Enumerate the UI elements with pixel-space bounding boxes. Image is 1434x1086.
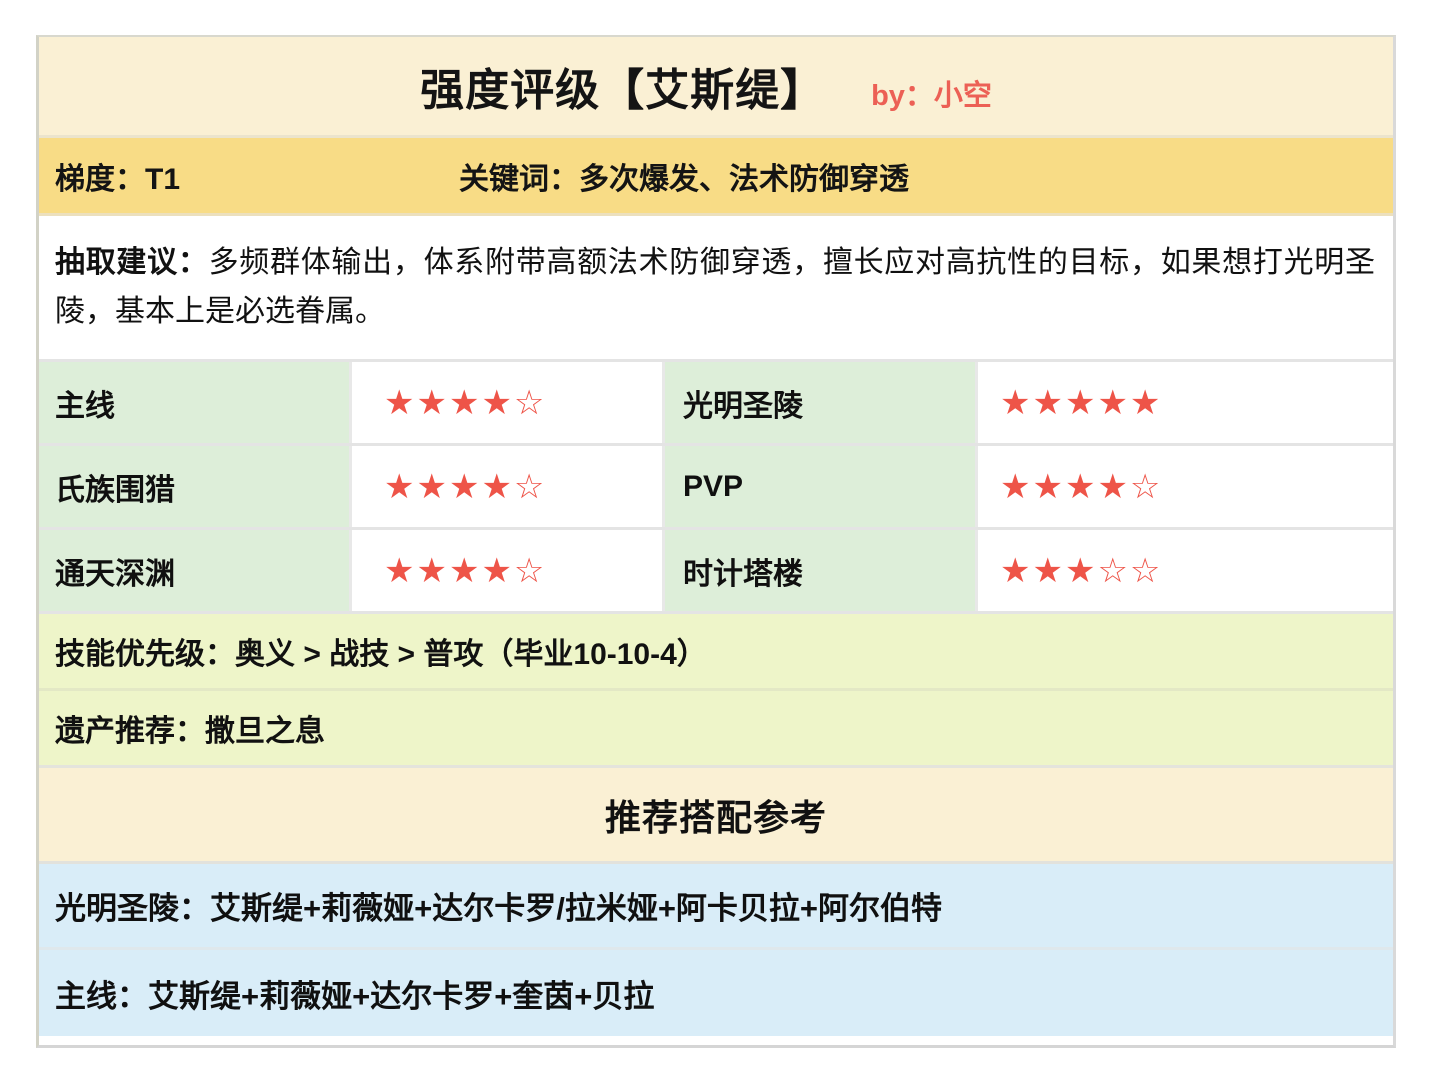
tier-row: 梯度：T1 关键词：多次爆发、法术防御穿透 xyxy=(39,138,1393,216)
skill-priority-text: 技能优先级：奥义 > 战技 > 普攻（毕业10-10-4） xyxy=(39,614,707,688)
rating-label-clock-tower: 时计塔楼 xyxy=(665,530,978,611)
advice-label: 抽取建议： xyxy=(55,246,209,279)
rating-label-holy-tomb: 光明圣陵 xyxy=(665,362,978,443)
advice-text: 抽取建议：多频群体输出，体系附带高额法术防御穿透，擅长应对高抗性的目标，如果想打… xyxy=(39,239,1393,336)
rating-label-abyss: 通天深渊 xyxy=(39,530,352,611)
rating-row: 通天深渊 ★★★★☆ 时计塔楼 ★★★☆☆ xyxy=(39,530,1393,614)
advice-body: 多频群体输出，体系附带高额法术防御穿透，擅长应对高抗性的目标，如果想打光明圣陵，… xyxy=(55,246,1375,328)
rating-label-pvp: PVP xyxy=(665,446,978,527)
legacy-row: 遗产推荐：撒旦之息 xyxy=(39,691,1393,768)
team-section-header: 推荐搭配参考 xyxy=(39,768,1393,864)
rating-row: 主线 ★★★★☆ 光明圣陵 ★★★★★ xyxy=(39,362,1393,446)
team-section-header-text: 推荐搭配参考 xyxy=(605,789,827,841)
rating-label-main-story: 主线 xyxy=(39,362,352,443)
keywords-label: 关键词：多次爆发、法术防御穿透 xyxy=(459,138,1393,213)
rating-stars-main-story: ★★★★☆ xyxy=(384,386,546,420)
rating-stars-clan-hunt: ★★★★☆ xyxy=(384,470,546,504)
rating-stars-clock-tower: ★★★☆☆ xyxy=(1000,554,1162,588)
page-title: 强度评级【艾斯缇】 xyxy=(420,54,825,118)
rating-stars-pvp: ★★★★☆ xyxy=(1000,470,1162,504)
skill-priority-row: 技能优先级：奥义 > 战技 > 普攻（毕业10-10-4） xyxy=(39,614,1393,691)
rating-stars-abyss: ★★★★☆ xyxy=(384,554,546,588)
rating-label-clan-hunt: 氏族围猎 xyxy=(39,446,352,527)
advice-row: 抽取建议：多频群体输出，体系附带高额法术防御穿透，擅长应对高抗性的目标，如果想打… xyxy=(39,216,1393,362)
title-row: 强度评级【艾斯缇】 by：小空 xyxy=(39,37,1393,138)
rating-stars-holy-tomb: ★★★★★ xyxy=(1000,386,1162,420)
rating-row: 氏族围猎 ★★★★☆ PVP ★★★★☆ xyxy=(39,446,1393,530)
author-byline: by：小空 xyxy=(871,72,992,114)
team-comp-main-story: 主线：艾斯缇+莉薇娅+达尔卡罗+奎茵+贝拉 xyxy=(39,950,654,1036)
legacy-text: 遗产推荐：撒旦之息 xyxy=(39,691,325,765)
team-row: 主线：艾斯缇+莉薇娅+达尔卡罗+奎茵+贝拉 xyxy=(39,950,1393,1036)
tier-label: 梯度：T1 xyxy=(39,138,459,213)
team-row: 光明圣陵：艾斯缇+莉薇娅+达尔卡罗/拉米娅+阿卡贝拉+阿尔伯特 xyxy=(39,864,1393,950)
team-comp-holy-tomb: 光明圣陵：艾斯缇+莉薇娅+达尔卡罗/拉米娅+阿卡贝拉+阿尔伯特 xyxy=(39,864,942,947)
strength-rating-table: 强度评级【艾斯缇】 by：小空 梯度：T1 关键词：多次爆发、法术防御穿透 抽取… xyxy=(36,35,1396,1048)
